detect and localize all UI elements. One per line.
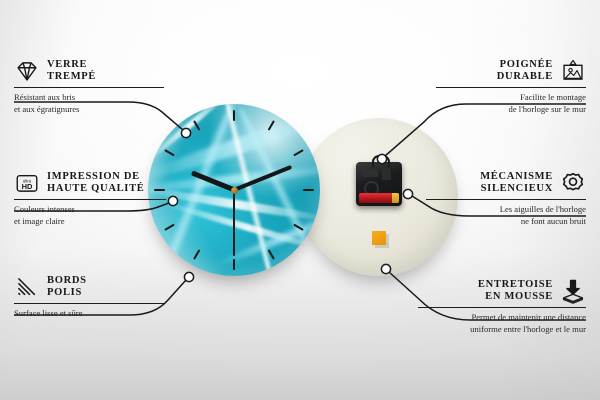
callout-desc-line1: Facilite le montage bbox=[436, 92, 586, 103]
foam-spacer bbox=[372, 231, 386, 245]
battery bbox=[359, 193, 399, 203]
callout-title-line2: TREMPÉ bbox=[47, 71, 96, 83]
callout-titles: IMPRESSION DE HAUTE QUALITÉ bbox=[47, 171, 145, 195]
callout-divider bbox=[436, 87, 586, 88]
hour-marker bbox=[233, 259, 235, 270]
clock-center-cap bbox=[231, 187, 238, 194]
callout-title-line1: POIGNÉE bbox=[497, 59, 553, 71]
callout-divider bbox=[14, 303, 164, 304]
callout-mecanisme-silencieux[interactable]: MÉCANISME SILENCIEUX Les aiguilles de l'… bbox=[426, 170, 586, 227]
callout-title-line1: IMPRESSION DE bbox=[47, 171, 145, 183]
hour-marker bbox=[193, 249, 200, 260]
callout-header: VERRE TREMPÉ bbox=[14, 58, 164, 84]
callout-title-line1: BORDS bbox=[47, 275, 87, 287]
hanging-handle-icon bbox=[372, 155, 390, 167]
callout-verre-trempe[interactable]: VERRE TREMPÉ Résistant aux bris et aux é… bbox=[14, 58, 164, 115]
ultra-hd-icon: ultra HD bbox=[14, 170, 40, 196]
foam-spacer-icon bbox=[560, 278, 586, 304]
callout-title-line2: SILENCIEUX bbox=[480, 183, 553, 195]
callout-title-line1: ENTRETOISE bbox=[478, 279, 553, 291]
picture-hanger-icon bbox=[560, 58, 586, 84]
clock-front-view bbox=[148, 104, 320, 276]
callout-divider bbox=[426, 199, 586, 200]
callout-desc-line2: et image claire bbox=[14, 216, 166, 227]
hour-marker bbox=[164, 149, 175, 156]
diamond-icon bbox=[14, 58, 40, 84]
callout-divider bbox=[418, 307, 586, 308]
callout-divider bbox=[14, 199, 166, 200]
callout-titles: POIGNÉE DURABLE bbox=[497, 59, 553, 83]
callout-impression-haute-qualite[interactable]: ultra HD IMPRESSION DE HAUTE QUALITÉ Cou… bbox=[14, 170, 166, 227]
callout-desc-line1: Permet de maintenir une distance bbox=[418, 312, 586, 323]
callout-titles: VERRE TREMPÉ bbox=[47, 59, 96, 83]
callout-desc-line1: Les aiguilles de l'horloge bbox=[426, 204, 586, 215]
callout-header: POIGNÉE DURABLE bbox=[436, 58, 586, 84]
infographic-canvas: VERRE TREMPÉ Résistant aux bris et aux é… bbox=[0, 0, 600, 400]
callout-title-line2: HAUTE QUALITÉ bbox=[47, 183, 145, 195]
callout-title-line1: VERRE bbox=[47, 59, 96, 71]
callout-titles: BORDS POLIS bbox=[47, 275, 87, 299]
hour-marker bbox=[233, 110, 235, 121]
callout-title-line2: EN MOUSSE bbox=[478, 291, 553, 303]
clock-mechanism bbox=[356, 162, 402, 206]
callout-header: ENTRETOISE EN MOUSSE bbox=[418, 278, 586, 304]
callout-desc-line1: Résistant aux bris bbox=[14, 92, 164, 103]
callout-desc-line2: et aux égratignures bbox=[14, 104, 164, 115]
callout-titles: MÉCANISME SILENCIEUX bbox=[480, 171, 553, 195]
svg-text:HD: HD bbox=[22, 182, 33, 191]
hour-marker bbox=[293, 149, 304, 156]
callout-titles: ENTRETOISE EN MOUSSE bbox=[478, 279, 553, 303]
callout-bords-polis[interactable]: BORDS POLIS Surface lisse et sûre bbox=[14, 274, 164, 320]
callout-poignee-durable[interactable]: POIGNÉE DURABLE Facilite le montage de l… bbox=[436, 58, 586, 115]
clock-second-hand bbox=[233, 190, 235, 256]
callout-entretoise-en-mousse[interactable]: ENTRETOISE EN MOUSSE Permet de maintenir… bbox=[418, 278, 586, 335]
callout-header: BORDS POLIS bbox=[14, 274, 164, 300]
callout-desc-line2: ne font aucun bruit bbox=[426, 216, 586, 227]
callout-header: MÉCANISME SILENCIEUX bbox=[426, 170, 586, 196]
mechanism-detail bbox=[382, 168, 391, 180]
callout-desc-line2: uniforme entre l'horloge et le mur bbox=[418, 324, 586, 335]
callout-title-line2: DURABLE bbox=[497, 71, 553, 83]
callout-desc-line2: de l'horloge sur le mur bbox=[436, 104, 586, 115]
callout-divider bbox=[14, 87, 164, 88]
hour-marker bbox=[303, 189, 314, 191]
battery-terminal bbox=[392, 193, 399, 203]
polished-edges-icon bbox=[14, 274, 40, 300]
callout-header: ultra HD IMPRESSION DE HAUTE QUALITÉ bbox=[14, 170, 166, 196]
mechanism-detail bbox=[363, 170, 378, 177]
callout-desc-line1: Couleurs intenses bbox=[14, 204, 166, 215]
gear-icon bbox=[560, 170, 586, 196]
callout-title-line1: MÉCANISME bbox=[480, 171, 553, 183]
callout-title-line2: POLIS bbox=[47, 287, 87, 299]
callout-desc-line1: Surface lisse et sûre bbox=[14, 308, 164, 319]
